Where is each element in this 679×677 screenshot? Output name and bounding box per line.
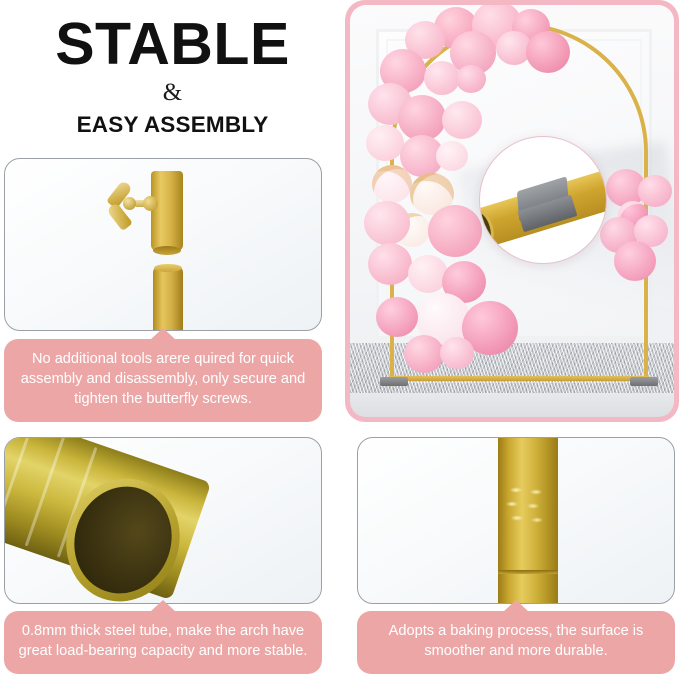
screw-head bbox=[143, 196, 158, 211]
tube-surface-texture bbox=[502, 484, 554, 536]
balloon bbox=[368, 243, 412, 285]
arch-foot-right bbox=[630, 377, 658, 386]
pink-balloon-gold-arch-photo bbox=[345, 0, 679, 422]
caption-assembly: No additional tools arere quired for qui… bbox=[4, 339, 322, 422]
balloon bbox=[456, 65, 486, 93]
hero-scene bbox=[350, 5, 674, 417]
steel-tube-thickness-photo bbox=[4, 437, 322, 604]
tube-highlight-1 bbox=[4, 437, 33, 535]
gold-tube-vertical bbox=[498, 437, 558, 604]
balloon bbox=[376, 297, 418, 337]
gold-tube-upper-segment bbox=[151, 171, 183, 251]
inset-tube-opening bbox=[479, 211, 494, 246]
tube-joint-seam bbox=[498, 570, 558, 574]
confetti-balloon bbox=[372, 165, 412, 203]
floor-front-edge bbox=[350, 393, 674, 417]
ampersand-separator: & bbox=[0, 76, 345, 110]
balloon bbox=[526, 31, 570, 73]
balloon bbox=[428, 205, 482, 257]
infographic-page: STABLE & EASY ASSEMBLY No additional too… bbox=[0, 0, 679, 677]
balloon bbox=[364, 201, 410, 245]
balloon bbox=[638, 175, 672, 207]
balloon bbox=[436, 141, 468, 171]
gold-tube-lower-segment bbox=[153, 267, 183, 331]
page-subtitle: EASY ASSEMBLY bbox=[0, 111, 345, 138]
tube-baked-surface-photo bbox=[357, 437, 675, 604]
balloon bbox=[424, 61, 460, 95]
caption-tube-end: 0.8mm thick steel tube, make the arch ha… bbox=[4, 611, 322, 674]
arch-foot-left bbox=[380, 377, 408, 386]
balloon bbox=[442, 101, 482, 139]
butterfly-screw-connection-photo bbox=[4, 158, 322, 331]
headline-block: STABLE & EASY ASSEMBLY bbox=[0, 14, 345, 138]
butterfly-screw-hub bbox=[123, 197, 136, 210]
page-title: STABLE bbox=[0, 14, 345, 74]
balloon bbox=[404, 335, 444, 373]
caption-tube-surface: Adopts a baking process, the surface is … bbox=[357, 611, 675, 674]
balloon bbox=[366, 125, 404, 161]
inset-gold-tube bbox=[479, 169, 607, 249]
tube-highlight-2 bbox=[25, 437, 66, 547]
tube-connector-closeup-inset bbox=[479, 136, 607, 264]
gold-arch-base-bar bbox=[388, 376, 650, 381]
balloon bbox=[440, 337, 474, 369]
balloon bbox=[614, 241, 656, 281]
